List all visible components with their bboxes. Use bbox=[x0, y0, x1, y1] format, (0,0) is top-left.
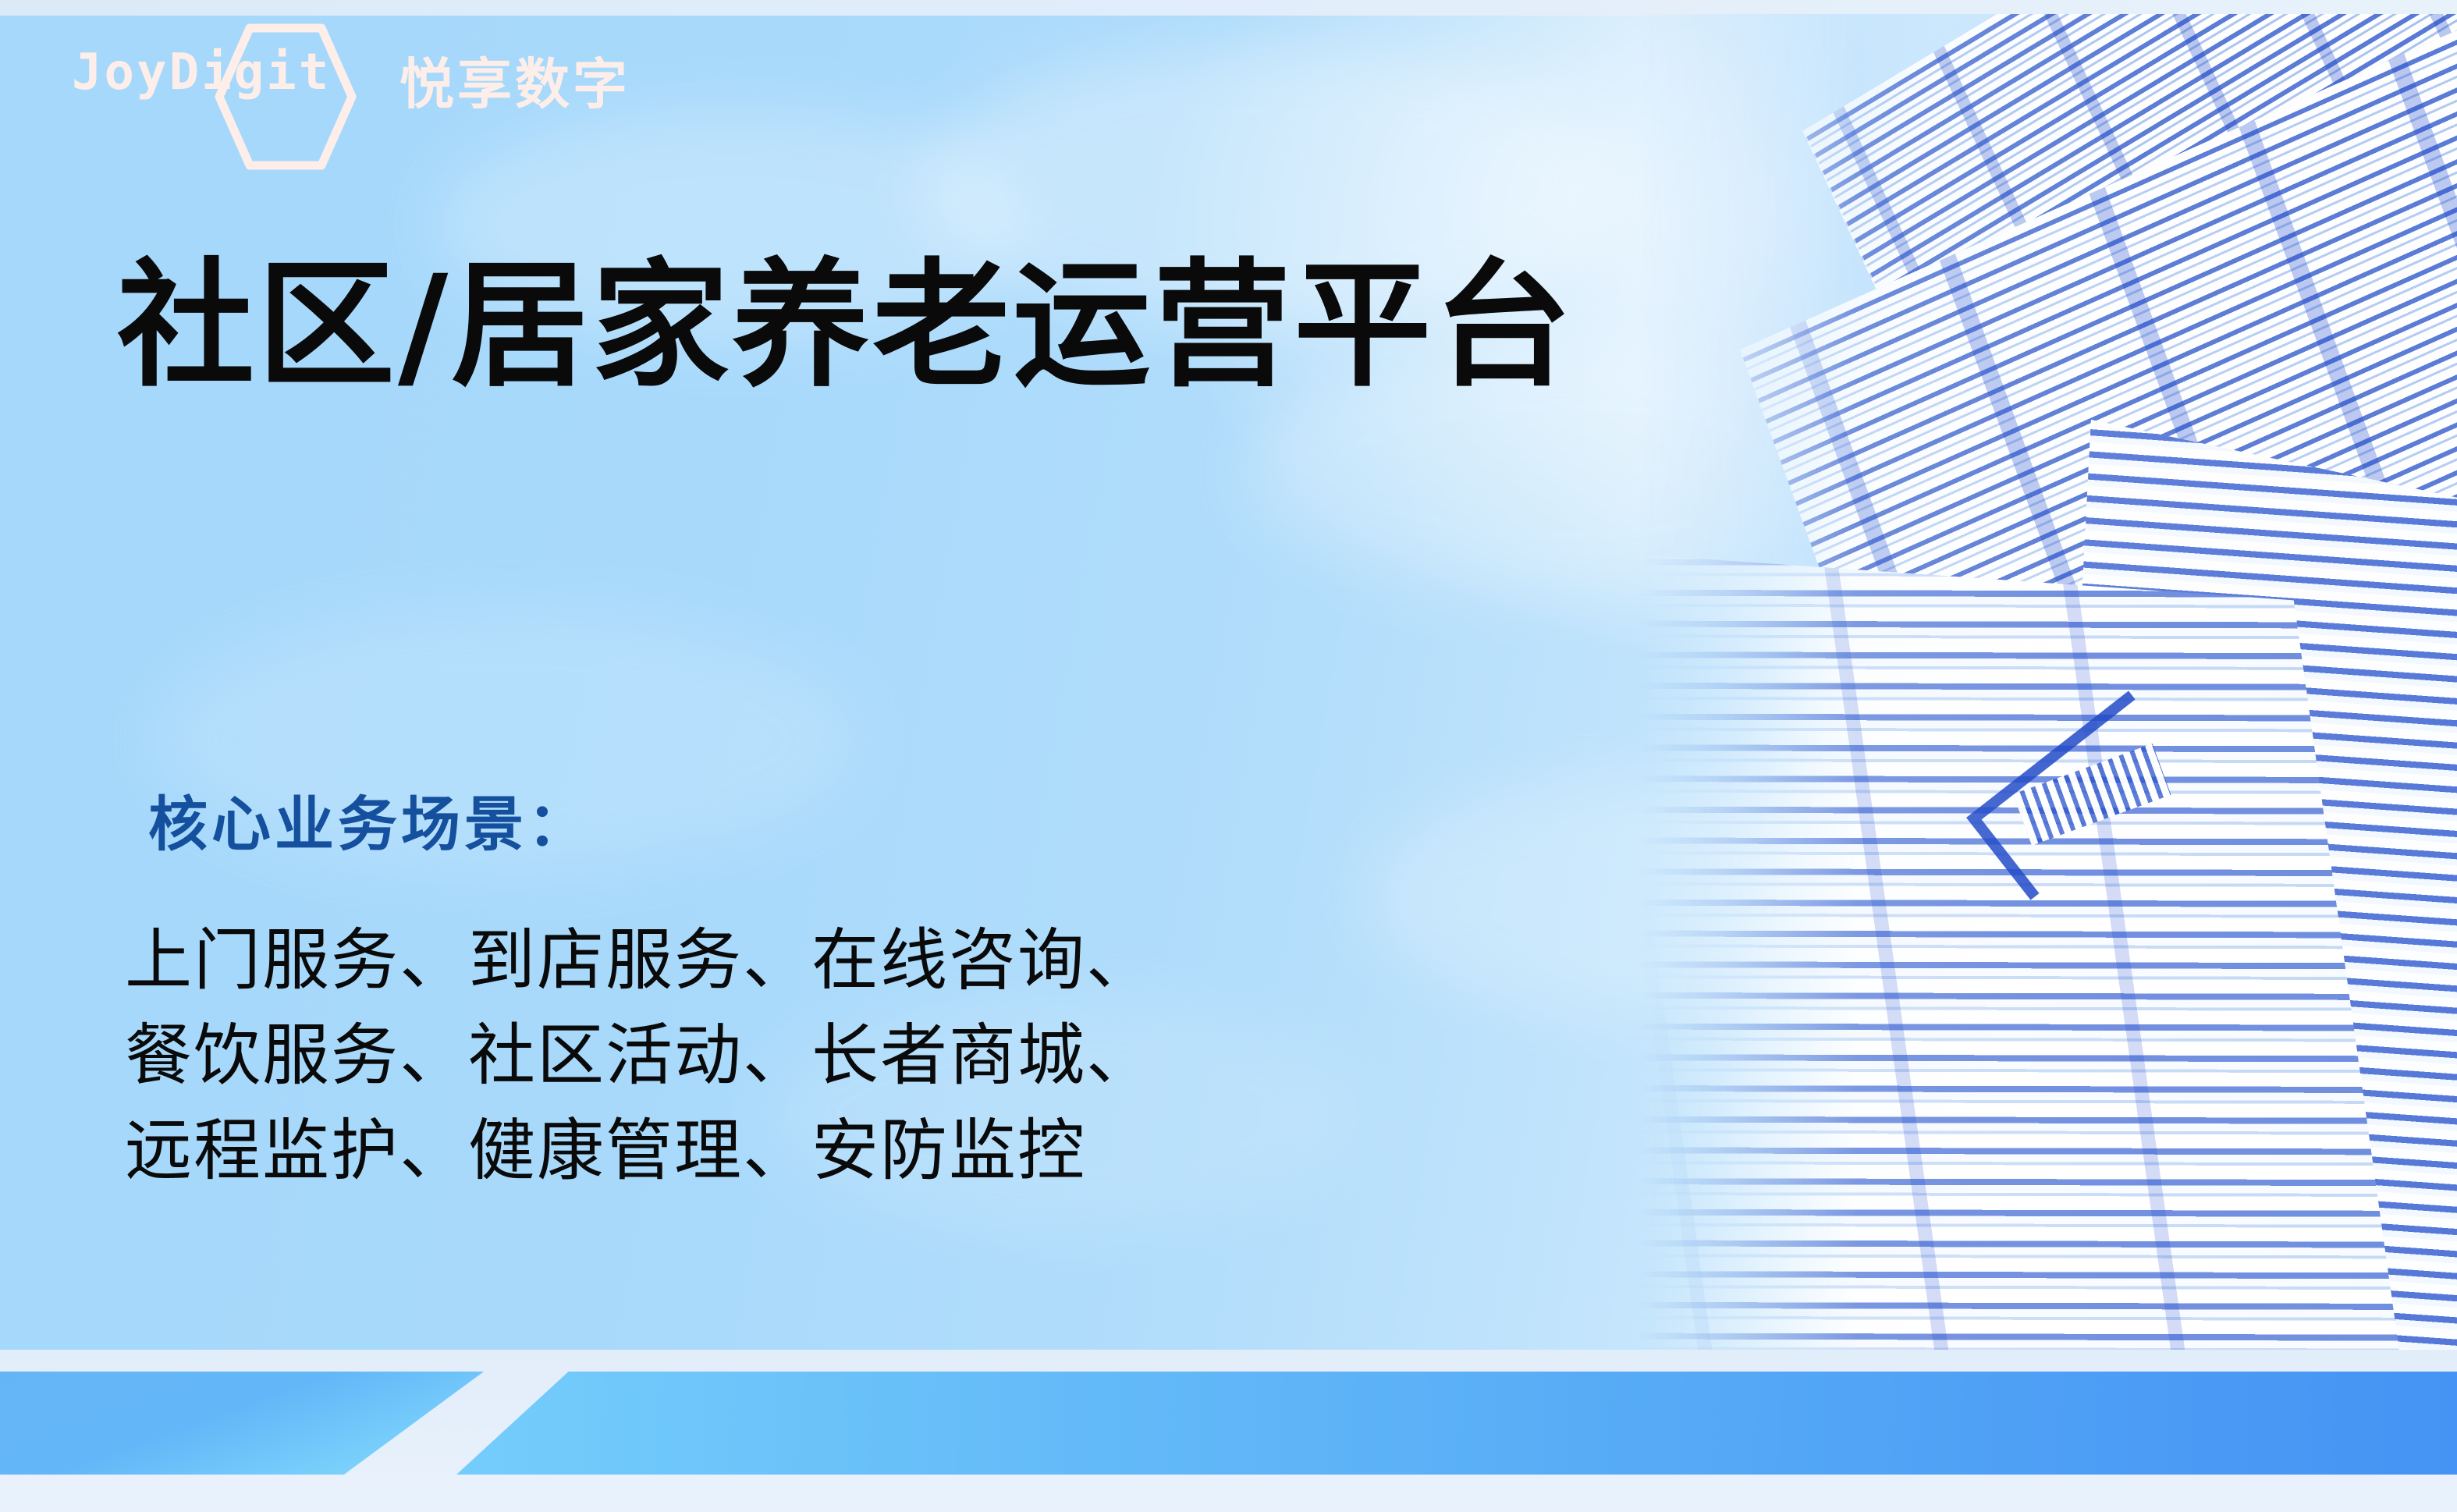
scenario-line: 远程监护、健康管理、安防监控 bbox=[125, 1103, 1155, 1198]
ribbon-shape-left bbox=[0, 1372, 484, 1475]
slide-canvas: JoyDigit 悦享数字 社区/居家养老运营平台 核心业务场景： 上门服务、到… bbox=[0, 0, 2457, 1512]
building-tower-main bbox=[1545, 545, 2424, 1395]
scenario-list: 上门服务、到店服务、在线咨询、 餐饮服务、社区活动、长者商城、 远程监护、健康管… bbox=[125, 913, 1155, 1198]
logo-wordmark-cn: 悦享数字 bbox=[399, 41, 630, 119]
scenario-line: 上门服务、到店服务、在线咨询、 bbox=[125, 913, 1155, 1008]
section-heading: 核心业务场景： bbox=[148, 776, 591, 862]
brand-logo[interactable]: JoyDigit 悦享数字 bbox=[133, 34, 663, 120]
building-photo bbox=[1545, 14, 2457, 1395]
top-edge-strip bbox=[0, 0, 2457, 16]
bottom-ribbon bbox=[0, 1350, 2457, 1512]
scenario-line: 餐饮服务、社区活动、长者商城、 bbox=[125, 1008, 1155, 1103]
ribbon-band bbox=[0, 1372, 2457, 1475]
logo-wordmark: JoyDigit bbox=[72, 44, 331, 101]
window-glass-stripes bbox=[1545, 545, 2424, 1395]
page-title: 社区/居家养老运营平台 bbox=[117, 257, 1575, 395]
ribbon-shape-right bbox=[456, 1372, 2457, 1475]
